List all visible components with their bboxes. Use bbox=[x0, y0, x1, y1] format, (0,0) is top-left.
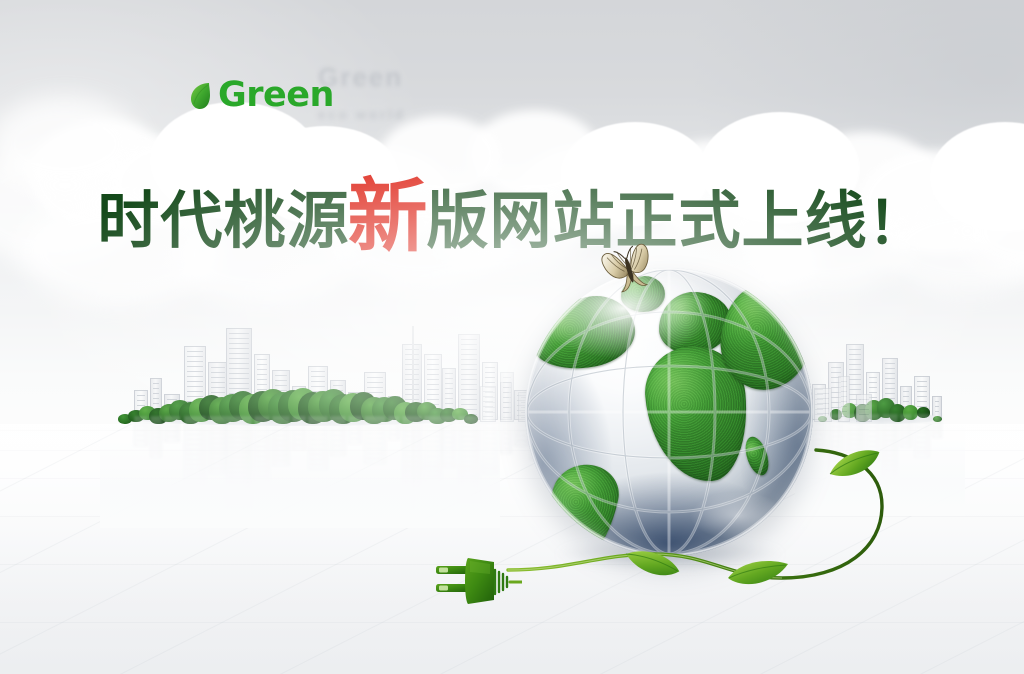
building bbox=[330, 380, 346, 420]
plug-side-leaf bbox=[726, 558, 790, 592]
headline-char-9: 式 bbox=[679, 190, 742, 252]
building bbox=[812, 384, 826, 420]
building bbox=[424, 354, 442, 420]
building bbox=[402, 344, 422, 420]
building bbox=[882, 358, 898, 420]
building bbox=[364, 416, 386, 464]
building bbox=[150, 378, 162, 420]
tree bbox=[308, 391, 338, 422]
headline-char-10: 上 bbox=[742, 190, 805, 252]
tree bbox=[842, 403, 857, 418]
tree bbox=[179, 402, 202, 424]
logo-text: Green bbox=[218, 78, 334, 113]
building bbox=[814, 388, 832, 422]
island-base bbox=[818, 413, 942, 424]
building bbox=[388, 416, 400, 440]
page-title: 时代桃源新版网站正式上线！ bbox=[0, 168, 1024, 252]
city-skyline-right bbox=[810, 330, 940, 420]
building bbox=[866, 372, 880, 420]
tree bbox=[350, 392, 377, 420]
building bbox=[914, 376, 930, 420]
building bbox=[184, 346, 206, 420]
building-spire bbox=[412, 416, 414, 510]
tree bbox=[169, 400, 190, 420]
cable-leaf-1 bbox=[623, 546, 682, 581]
headline-char-12: ！ bbox=[868, 194, 927, 252]
vine-cable bbox=[430, 450, 950, 650]
building bbox=[150, 416, 162, 458]
building bbox=[348, 416, 362, 444]
headline-char-1: 代 bbox=[160, 190, 223, 252]
building bbox=[348, 392, 362, 420]
building bbox=[272, 416, 290, 466]
tree bbox=[199, 395, 224, 420]
city-reflection-left bbox=[130, 424, 460, 516]
building bbox=[838, 376, 850, 422]
building bbox=[480, 386, 496, 422]
building bbox=[292, 386, 306, 420]
logo-watermark-subtext: eco world bbox=[318, 107, 498, 122]
building bbox=[828, 362, 844, 420]
tree bbox=[288, 388, 318, 420]
tree bbox=[830, 409, 842, 420]
tree bbox=[877, 398, 895, 418]
building bbox=[402, 416, 422, 492]
tree bbox=[917, 407, 929, 418]
city-skyline-left bbox=[130, 320, 460, 420]
logo-watermark: Green eco world bbox=[318, 62, 498, 134]
building bbox=[364, 372, 386, 420]
building bbox=[856, 394, 872, 422]
building bbox=[900, 386, 912, 420]
building bbox=[134, 416, 148, 446]
tree bbox=[278, 390, 308, 422]
tree bbox=[903, 405, 918, 420]
building bbox=[932, 396, 942, 420]
tree bbox=[372, 397, 397, 422]
tree bbox=[229, 391, 257, 420]
tree bbox=[319, 389, 348, 420]
building bbox=[254, 354, 270, 420]
green-logo: Green bbox=[190, 78, 334, 113]
tree bbox=[394, 402, 417, 424]
island-base bbox=[118, 407, 478, 426]
tree bbox=[464, 414, 478, 424]
tree bbox=[248, 391, 277, 422]
building bbox=[226, 328, 252, 420]
building bbox=[292, 416, 306, 450]
city-skyline-left bbox=[130, 416, 460, 516]
building bbox=[184, 416, 206, 490]
building bbox=[458, 334, 480, 420]
headline-char-4: 新 bbox=[347, 177, 428, 257]
building bbox=[330, 416, 346, 456]
tree bbox=[268, 392, 298, 424]
tree bbox=[189, 398, 213, 422]
tree bbox=[361, 397, 387, 424]
ground-line-diagonal bbox=[0, 424, 495, 674]
tree bbox=[149, 408, 168, 424]
building bbox=[164, 416, 180, 442]
tree bbox=[159, 404, 179, 422]
banner-stage: Green Green eco world 时代桃源新版网站正式上线！ bbox=[0, 0, 1024, 674]
tree bbox=[329, 394, 358, 424]
butterfly-icon bbox=[598, 243, 660, 295]
building bbox=[500, 372, 514, 422]
building bbox=[134, 390, 148, 420]
building bbox=[272, 370, 290, 420]
headline-char-5: 版 bbox=[426, 190, 489, 252]
building bbox=[846, 344, 864, 420]
leaf-icon bbox=[190, 82, 211, 110]
tree bbox=[440, 408, 457, 422]
tree bbox=[405, 402, 426, 422]
tree-band-left bbox=[118, 380, 478, 426]
building bbox=[500, 416, 512, 454]
tree bbox=[865, 400, 883, 420]
tree bbox=[219, 394, 246, 422]
building bbox=[388, 396, 400, 420]
tree bbox=[209, 397, 235, 424]
tree bbox=[933, 416, 942, 422]
building bbox=[442, 368, 456, 420]
tree bbox=[258, 389, 288, 420]
tree bbox=[428, 408, 447, 424]
building bbox=[308, 366, 328, 420]
tree bbox=[339, 393, 367, 422]
building bbox=[812, 414, 826, 450]
ground-line-diagonal bbox=[0, 424, 335, 674]
tree bbox=[417, 402, 437, 420]
headline-char-2: 桃 bbox=[223, 190, 286, 252]
ground-line-horizontal bbox=[0, 430, 1024, 431]
headline-char-11: 线 bbox=[805, 190, 868, 252]
building bbox=[308, 416, 328, 470]
power-plug-icon bbox=[434, 554, 522, 616]
tree bbox=[239, 394, 268, 424]
tree-band-right bbox=[818, 398, 942, 424]
building bbox=[932, 414, 942, 438]
building bbox=[208, 416, 228, 474]
tree bbox=[383, 396, 407, 420]
building bbox=[900, 414, 912, 448]
building bbox=[226, 416, 252, 508]
building bbox=[208, 362, 228, 420]
tree bbox=[818, 416, 827, 422]
tree bbox=[889, 404, 906, 422]
building bbox=[482, 362, 498, 420]
tree bbox=[298, 392, 328, 424]
logo-watermark-text: Green bbox=[318, 62, 403, 92]
tree bbox=[139, 406, 156, 420]
tree bbox=[854, 404, 871, 422]
building-spire bbox=[412, 326, 414, 420]
building bbox=[164, 394, 180, 420]
building bbox=[254, 416, 270, 482]
tree bbox=[128, 410, 144, 422]
headline-char-3: 源 bbox=[286, 190, 349, 252]
tree bbox=[118, 414, 132, 424]
tree bbox=[452, 408, 468, 420]
headline-char-0: 时 bbox=[97, 190, 160, 252]
headline-char-6: 网 bbox=[489, 190, 552, 252]
building bbox=[500, 382, 512, 420]
